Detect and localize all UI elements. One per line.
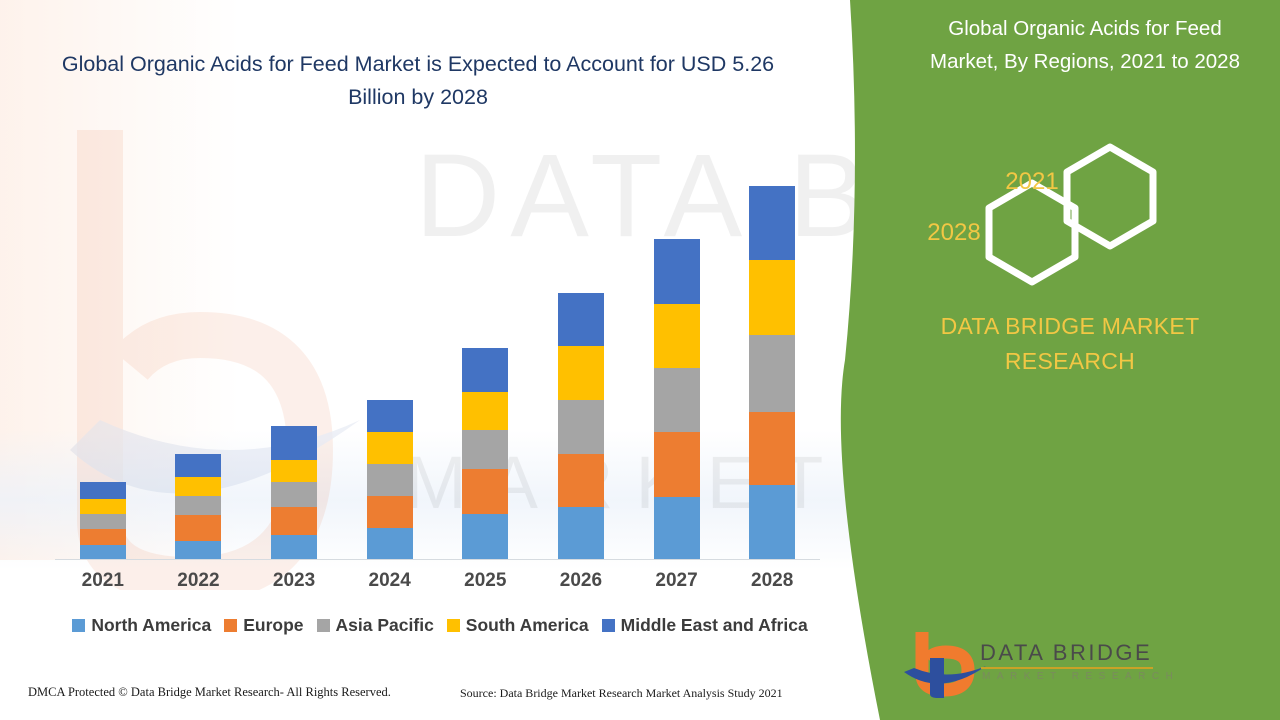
bar-segment-middle-east-and-africa [271,426,317,460]
x-axis-label-2022: 2022 [153,570,243,592]
bar-2026 [558,293,604,560]
bar-2023 [271,426,317,560]
bar-segment-europe [462,469,508,514]
hexagon-2021-shape [1067,147,1153,246]
stacked-bar-chart [55,140,820,560]
legend-item-south-america[interactable]: South America [447,615,589,636]
x-axis-label-2025: 2025 [440,570,530,592]
bar-segment-europe [367,496,413,528]
bar-segment-south-america [558,346,604,400]
x-axis-label-2028: 2028 [727,570,817,592]
brand-name: DATA BRIDGE MARKET RESEARCH [880,309,1260,379]
legend-item-north-america[interactable]: North America [72,615,211,636]
bar-segment-asia-pacific [367,464,413,496]
legend-swatch-icon [447,619,460,632]
bar-segment-asia-pacific [654,368,700,432]
bar-2024 [367,400,413,560]
logo-name: DATA BRIDGE [980,640,1152,666]
hexagon-2021-label: 2021 [992,168,1072,196]
bar-segment-north-america [367,528,413,560]
bar-segment-north-america [175,541,221,560]
logo-tagline: MARKET RESEARCH [982,671,1179,682]
legend-label: North America [91,615,211,636]
bar-segment-middle-east-and-africa [654,239,700,304]
bar-segment-middle-east-and-africa [175,454,221,477]
bar-segment-europe [271,507,317,535]
bar-segment-middle-east-and-africa [367,400,413,432]
bar-segment-asia-pacific [80,514,126,529]
green-panel-content: Global Organic Acids for Feed Market, By… [840,0,1280,720]
bar-segment-middle-east-and-africa [558,293,604,346]
bar-2021 [80,482,126,560]
logo-underline [981,667,1153,669]
bar-segment-south-america [654,304,700,368]
legend-swatch-icon [317,619,330,632]
footer-copyright: DMCA Protected © Data Bridge Market Rese… [28,685,391,700]
bar-segment-north-america [462,514,508,560]
bar-segment-europe [654,432,700,497]
footer-source: Source: Data Bridge Market Research Mark… [460,686,783,701]
bar-segment-south-america [749,260,795,335]
chart-panel: Global Organic Acids for Feed Market is … [0,0,860,720]
bar-2027 [654,239,700,560]
bar-segment-asia-pacific [558,400,604,454]
legend-item-asia-pacific[interactable]: Asia Pacific [317,615,434,636]
bar-segment-south-america [462,392,508,430]
bar-segment-south-america [271,460,317,482]
panel-title: Global Organic Acids for Feed Market, By… [920,12,1250,78]
bar-segment-north-america [271,535,317,560]
x-axis-line [55,559,820,560]
bar-segment-south-america [175,477,221,496]
bar-segment-south-america [80,499,126,514]
bar-segment-north-america [654,497,700,560]
legend-label: Asia Pacific [336,615,434,636]
bar-segment-europe [80,529,126,545]
bar-segment-north-america [80,545,126,560]
x-axis-label-2021: 2021 [58,570,148,592]
page-title: Global Organic Acids for Feed Market is … [48,48,788,114]
bar-2022 [175,454,221,560]
legend-item-europe[interactable]: Europe [224,615,303,636]
x-axis-label-2027: 2027 [632,570,722,592]
bar-segment-middle-east-and-africa [462,348,508,392]
bar-segment-europe [749,412,795,485]
bar-segment-europe [558,454,604,507]
x-axis-label-2026: 2026 [536,570,626,592]
bar-segment-north-america [558,507,604,560]
hexagon-badges [960,135,1210,295]
legend-label: Europe [243,615,303,636]
legend-label: Middle East and Africa [621,615,808,636]
bar-segment-europe [175,515,221,541]
hexagon-2028-shape [989,183,1075,282]
hexagon-outline-icons [960,135,1210,295]
chart-legend: North AmericaEuropeAsia PacificSouth Ame… [55,615,825,636]
legend-item-middle-east-and-africa[interactable]: Middle East and Africa [602,615,808,636]
hexagon-2028-label: 2028 [914,219,994,247]
bar-segment-south-america [367,432,413,464]
bar-segment-asia-pacific [271,482,317,507]
x-axis-labels: 20212022202320242025202620272028 [55,570,820,604]
bar-segment-asia-pacific [175,496,221,515]
bar-segment-middle-east-and-africa [749,186,795,260]
x-axis-label-2024: 2024 [345,570,435,592]
bar-segment-middle-east-and-africa [80,482,126,499]
bar-segment-asia-pacific [462,430,508,469]
infographic-page: DATA BRIDGE MARKET RESEARCH Global Organ… [0,0,1280,720]
x-axis-label-2023: 2023 [249,570,339,592]
bar-2028 [749,186,795,560]
legend-swatch-icon [602,619,615,632]
bar-segment-asia-pacific [749,335,795,412]
legend-swatch-icon [224,619,237,632]
legend-swatch-icon [72,619,85,632]
bar-2025 [462,348,508,560]
bar-segment-north-america [749,485,795,560]
legend-label: South America [466,615,589,636]
